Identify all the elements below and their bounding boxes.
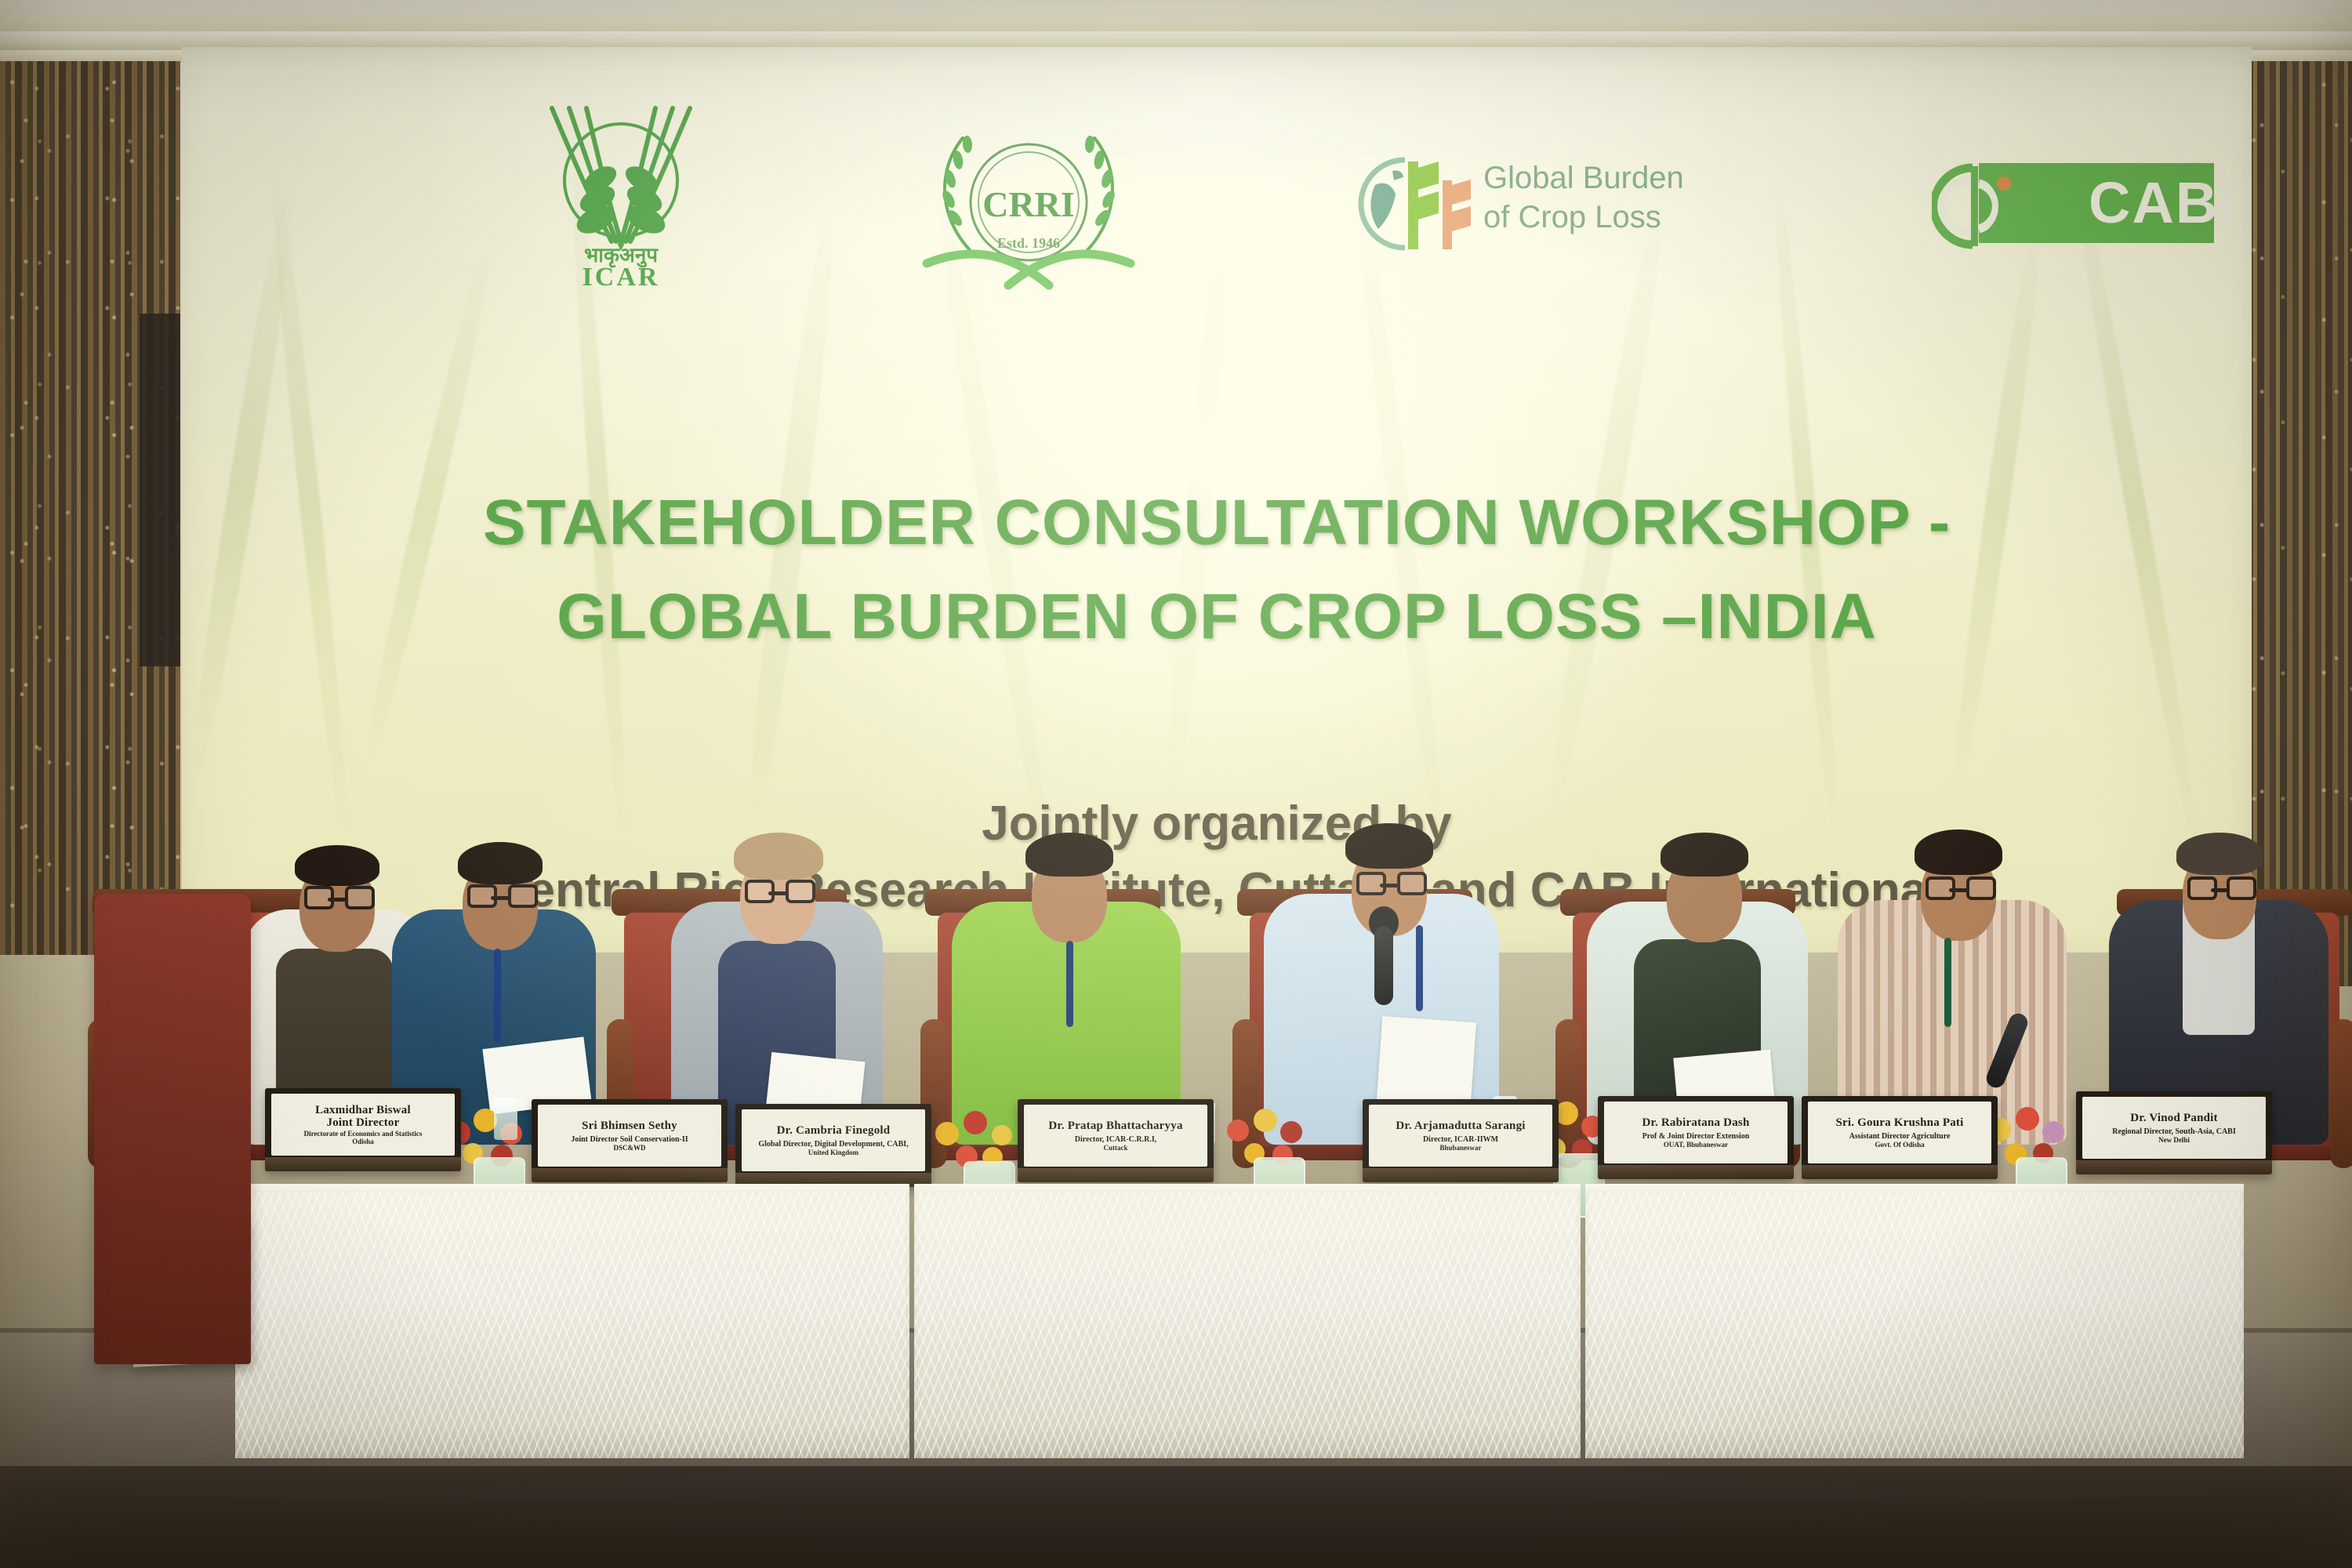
name-placard: Dr. Arjamadutta Sarangi Director, ICAR-I… bbox=[1363, 1099, 1559, 1182]
microphone bbox=[1374, 927, 1393, 1005]
panelist-3 bbox=[659, 808, 894, 1145]
chair bbox=[94, 894, 251, 1364]
placard-org-1: Cuttack bbox=[1104, 1144, 1128, 1152]
placard-name: Dr. Cambria Finegold bbox=[777, 1124, 891, 1138]
placard-org-1: Bhubaneswar bbox=[1439, 1144, 1481, 1152]
table-skirt-section bbox=[914, 1192, 1581, 1458]
placard-name: Laxmidhar Biswal bbox=[315, 1104, 411, 1117]
panelist-7 bbox=[1827, 800, 2078, 1145]
name-placard: Dr. Cambria Finegold Global Director, Di… bbox=[735, 1104, 931, 1187]
placard-org-2: Odisha bbox=[352, 1138, 374, 1145]
panelist-5 bbox=[1254, 792, 1513, 1145]
panelist-4 bbox=[941, 808, 1192, 1145]
panelist-6 bbox=[1576, 800, 1819, 1145]
placard-org-1: OUAT, Bhubaneswar bbox=[1664, 1141, 1728, 1149]
placard-role: Director, ICAR-C.R.R.I, bbox=[1075, 1135, 1156, 1144]
placard-org-1: New Delhi bbox=[2158, 1136, 2190, 1144]
name-placard: Dr. Vinod Pandit Regional Director, Sout… bbox=[2076, 1091, 2272, 1174]
name-placard: Sri. Goura Krushna Pati Assistant Direct… bbox=[1802, 1096, 1998, 1179]
placard-role: Global Director, Digital Development, CA… bbox=[758, 1140, 908, 1149]
placard-name: Dr. Pratap Bhattacharyya bbox=[1048, 1120, 1182, 1133]
water-glass bbox=[494, 1098, 517, 1140]
placard-name: Dr. Rabiratana Dash bbox=[1642, 1116, 1749, 1130]
placard-role: Joint Director Soil Conservation-II bbox=[571, 1135, 688, 1144]
placard-name: Dr. Vinod Pandit bbox=[2130, 1112, 2217, 1125]
table-skirt-section bbox=[1585, 1192, 2244, 1458]
name-placard: Laxmidhar Biswal Joint Director Director… bbox=[265, 1088, 461, 1171]
placard-name: Sri Bhimsen Sethy bbox=[582, 1120, 677, 1133]
placard-name: Dr. Arjamadutta Sarangi bbox=[1396, 1120, 1525, 1133]
name-placard: Dr. Rabiratana Dash Prof & Joint Directo… bbox=[1598, 1096, 1794, 1179]
table-skirt-section bbox=[235, 1192, 909, 1458]
name-placard: Dr. Pratap Bhattacharyya Director, ICAR-… bbox=[1018, 1099, 1214, 1182]
conference-photo: भाकृअनुप ICAR bbox=[0, 0, 2352, 1568]
placard-role: Director, ICAR-IIWM bbox=[1423, 1135, 1498, 1144]
placard-org-1: DSC&WD bbox=[613, 1144, 645, 1152]
placard-role: Prof & Joint Director Extension bbox=[1642, 1132, 1750, 1141]
placard-role: Joint Director bbox=[327, 1116, 400, 1130]
placard-org-1: Govt. Of Odisha bbox=[1875, 1141, 1924, 1149]
head-table bbox=[235, 1192, 2242, 1458]
placard-name: Sri. Goura Krushna Pati bbox=[1836, 1116, 1964, 1130]
flower-bouquet bbox=[1219, 1098, 1337, 1173]
placard-role: Assistant Director Agriculture bbox=[1849, 1132, 1951, 1141]
name-placard: Sri Bhimsen Sethy Joint Director Soil Co… bbox=[532, 1099, 728, 1182]
placard-org-1: United Kingdom bbox=[808, 1149, 858, 1156]
placard-role: Regional Director, South-Asia, CABI bbox=[2112, 1127, 2236, 1136]
placard-org-1: Directorate of Economics and Statistics bbox=[304, 1130, 423, 1138]
